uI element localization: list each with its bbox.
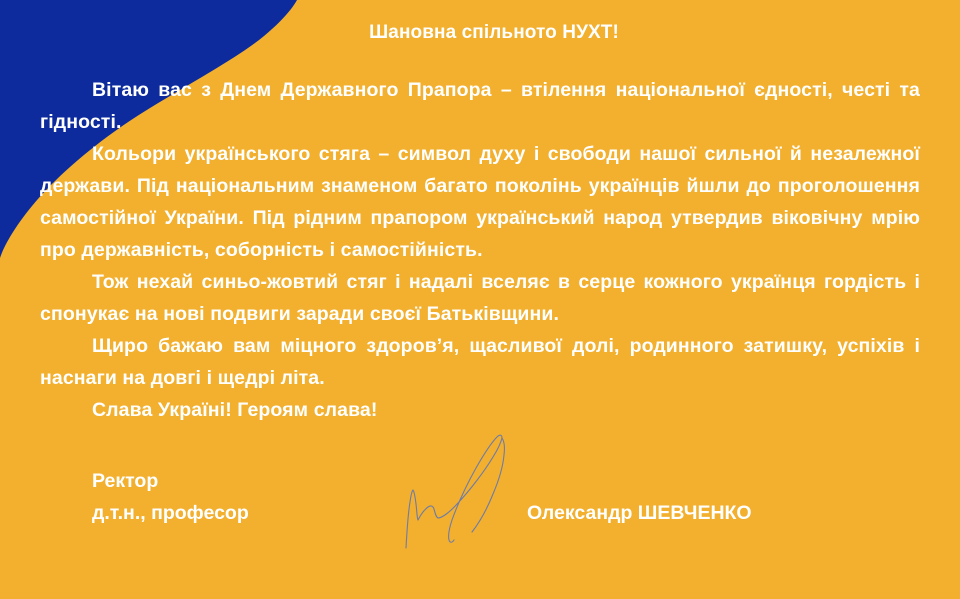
card-content: Шановна спільното НУХТ! Вітаю вас з Днем… [0,0,960,599]
letter-body: Вітаю вас з Днем Державного Прапора – вт… [40,74,920,426]
paragraph-3: Тож нехай синьо-жовтий стяг і надалі все… [40,266,920,330]
signatory-name: Олександр ШЕВЧЕНКО [527,497,752,529]
paragraph-1: Вітаю вас з Днем Державного Прапора – вт… [40,74,920,138]
paragraph-5-slogan: Слава Україні! Героям слава! [40,394,920,426]
signatory-title-line-1: Ректор [92,465,922,497]
signatory-title-line-2: д.т.н., професор Олександр ШЕВЧЕНКО [92,497,922,529]
paragraph-4: Щиро бажаю вам міцного здоров’я, щасливо… [40,330,920,394]
greeting-card: Шановна спільното НУХТ! Вітаю вас з Днем… [0,0,960,599]
signature-block: Ректор д.т.н., професор Олександр ШЕВЧЕН… [92,465,922,529]
greeting-heading: Шановна спільното НУХТ! [0,22,960,44]
signatory-degree-label: д.т.н., професор [92,502,249,524]
paragraph-2: Кольори українського стяга – символ духу… [40,138,920,266]
